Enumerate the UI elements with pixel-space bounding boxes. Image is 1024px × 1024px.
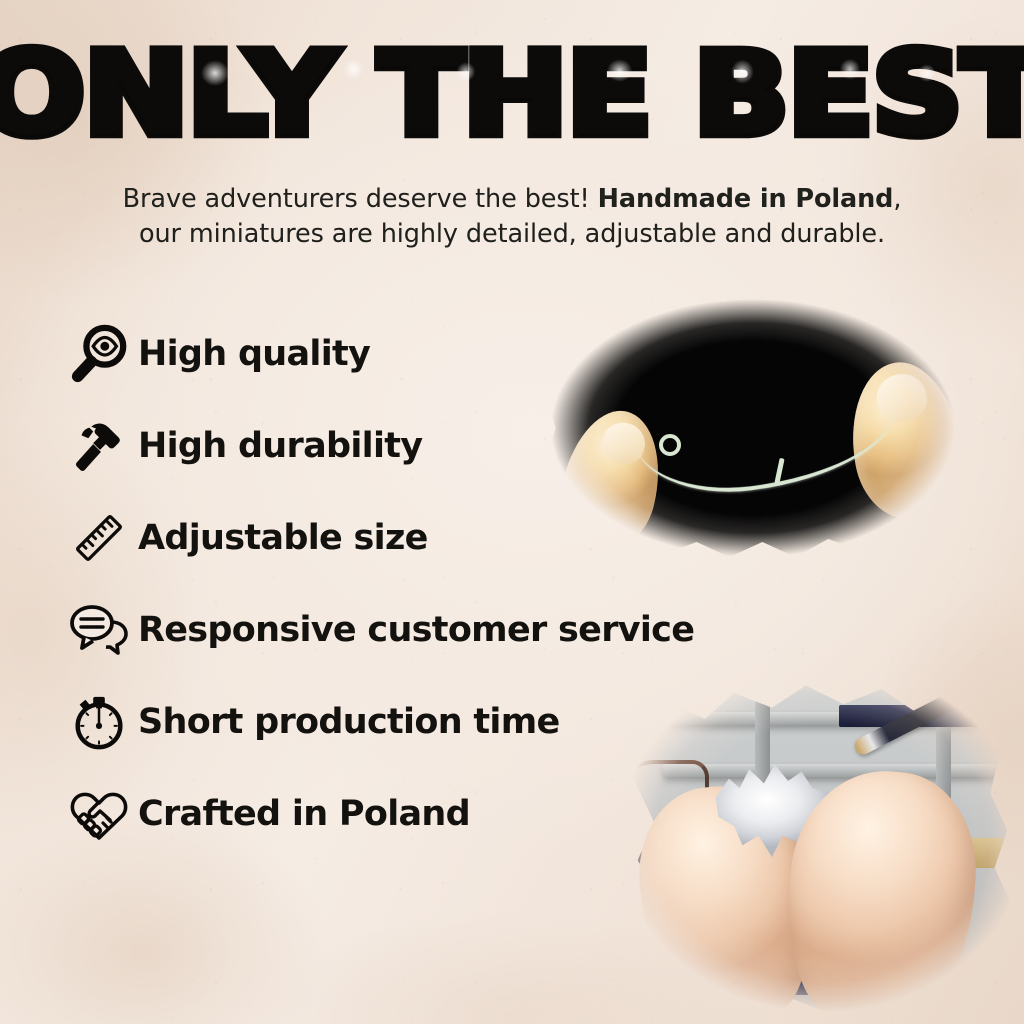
subtitle-text-after: , [893,184,901,214]
page-title: ONLY THE BEST [0,38,1024,152]
hammer-icon [60,415,138,477]
magnifier-eye-icon [60,323,138,385]
feature-label: Responsive customer service [138,610,694,650]
feature-label: Short production time [138,702,560,742]
miniature-part-knot [659,434,681,456]
headline-container: ONLY THE BEST [0,38,1024,146]
ruler-icon [60,507,138,569]
feature-label: Adjustable size [138,518,428,558]
subtitle-line-2: our miniatures are highly detailed, adju… [139,219,885,249]
feature-label: High durability [138,426,422,466]
subtitle-line-1: Brave adventurers deserve the best! Hand… [123,184,902,214]
feature-label: Crafted in Poland [138,794,470,834]
photo-workshop-painting [604,652,1024,1024]
speech-bubbles-icon [60,598,138,662]
promo-poster: ONLY THE BEST Brave adventurers deserve … [0,0,1024,1024]
stopwatch-icon [60,691,138,753]
photo-bending-miniature [518,278,988,578]
subtitle: Brave adventurers deserve the best! Hand… [0,182,1024,252]
subtitle-highlight: Handmade in Poland [598,184,894,214]
feature-label: High quality [138,334,370,374]
heart-handshake-icon [60,782,138,846]
subtitle-text-before: Brave adventurers deserve the best! [123,184,590,214]
